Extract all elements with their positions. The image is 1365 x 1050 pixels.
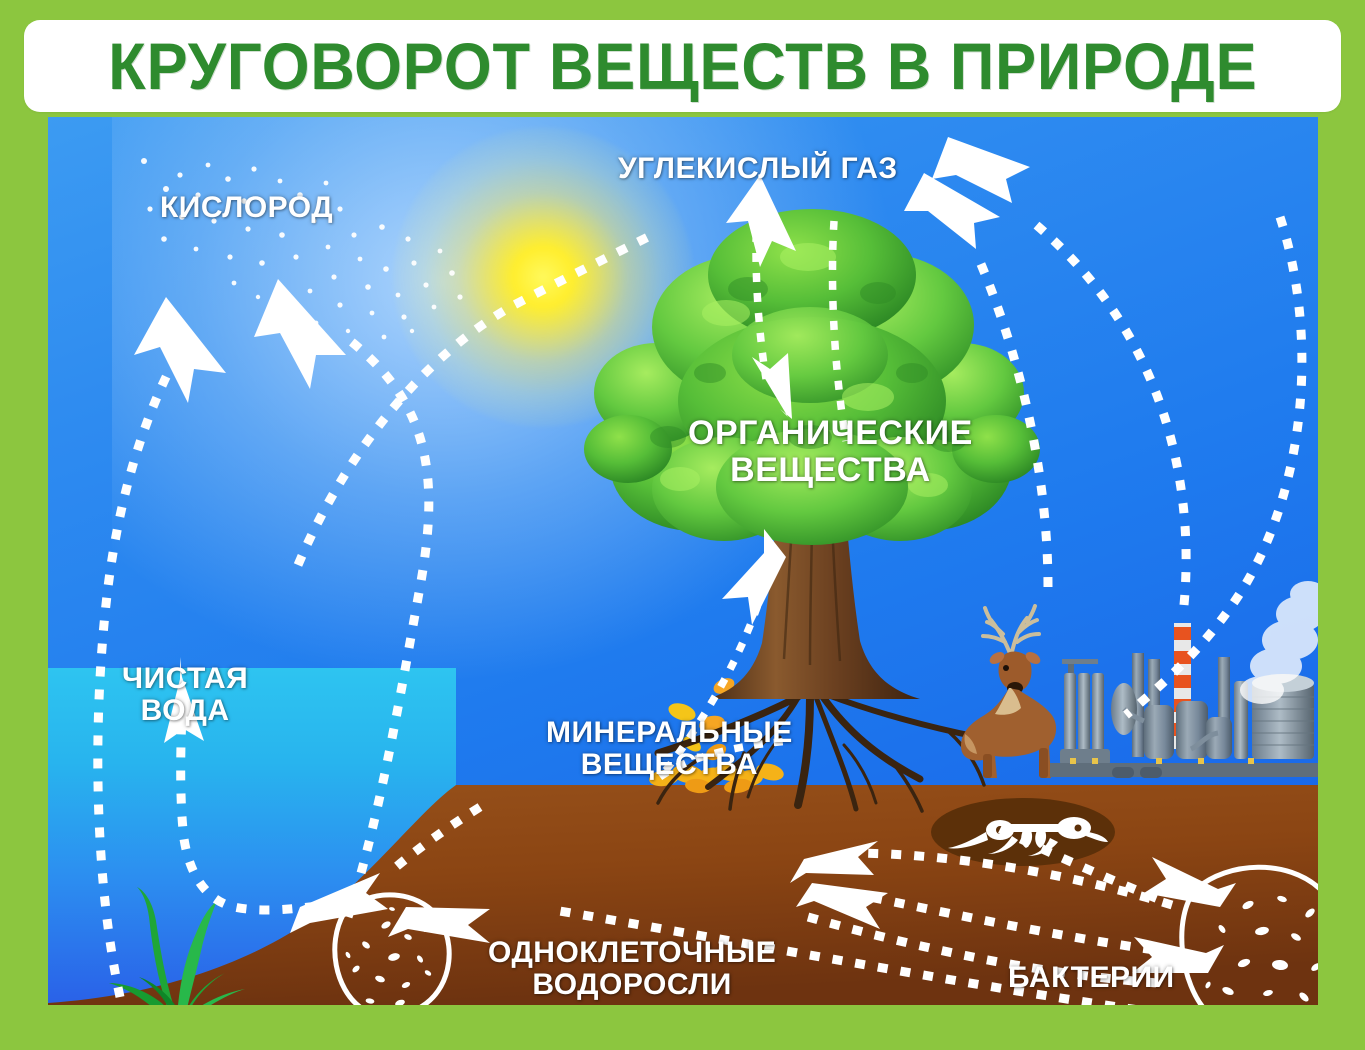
diagram-scene: КИСЛОРОД УГЛЕКИСЛЫЙ ГАЗ ОРГАНИЧЕСКИЕ ВЕЩ… (48, 117, 1318, 1005)
factory-smoke-icon (1228, 572, 1318, 712)
title-banner: КРУГОВОРОТ ВЕЩЕСТВ В ПРИРОДЕ (24, 20, 1341, 112)
seaweed-icon (93, 887, 278, 1005)
page-title: КРУГОВОРОТ ВЕЩЕСТВ В ПРИРОДЕ (108, 33, 1257, 99)
animal-skeleton-icon (928, 792, 1118, 872)
poster-root: КРУГОВОРОТ ВЕЩЕСТВ В ПРИРОДЕ (0, 0, 1365, 1050)
